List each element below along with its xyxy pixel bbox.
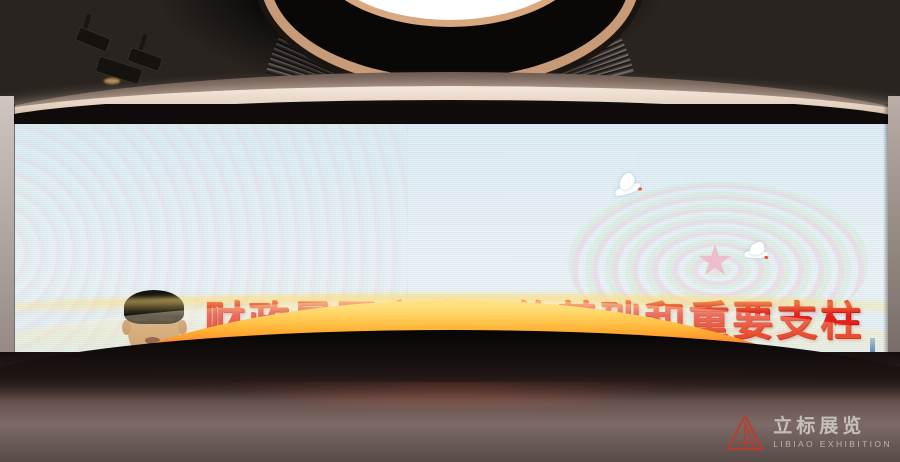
screen-bezel-top: [8, 104, 892, 124]
watermark-text: 立标展览 LIBIAO EXHIBITION: [773, 417, 892, 449]
libiao-triangle-logo-icon: [725, 413, 765, 453]
watermark: 立标展览 LIBIAO EXHIBITION: [725, 410, 892, 456]
wall-right: [888, 96, 900, 396]
spotlight-glow-icon: [104, 78, 120, 84]
medallion-artwork: [315, 0, 585, 20]
watermark-en: LIBIAO EXHIBITION: [773, 440, 892, 449]
exhibition-hall-photo: 财政是国家治理的基础和重要支柱: [0, 0, 900, 462]
wall-left: [0, 96, 14, 396]
medallion-inner-disc: [315, 0, 585, 20]
watermark-cn: 立标展览: [773, 417, 892, 436]
